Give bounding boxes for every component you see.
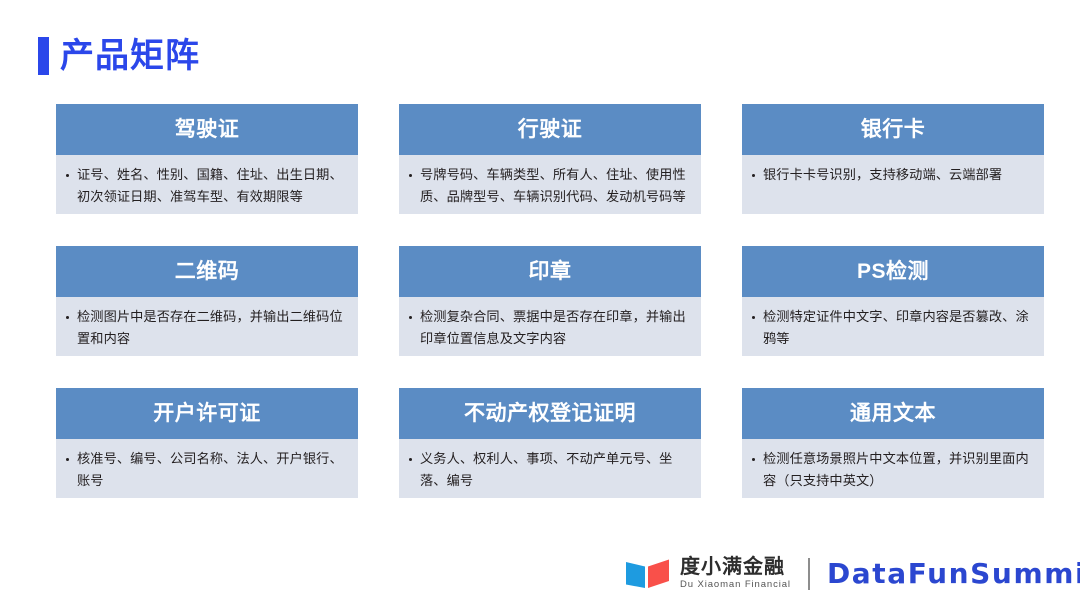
card-description: 号牌号码、车辆类型、所有人、住址、使用性质、品牌型号、车辆识别代码、发动机号码等 [407, 164, 691, 208]
card-body: 检测特定证件中文字、印章内容是否篡改、涂鸦等 [742, 297, 1044, 356]
card-title: 驾驶证 [175, 119, 240, 140]
card-title: 银行卡 [861, 119, 926, 140]
card-header: 通用文本 [742, 388, 1044, 439]
card-header: 开户许可证 [56, 388, 358, 439]
product-card-driver-license[interactable]: 驾驶证 证号、姓名、性别、国籍、住址、出生日期、初次领证日期、准驾车型、有效期限… [56, 104, 358, 214]
card-description: 核准号、编号、公司名称、法人、开户银行、账号 [64, 448, 348, 492]
page-title-row: 产品矩阵 [38, 33, 200, 79]
product-card-general-text[interactable]: 通用文本 检测任意场景照片中文本位置，并识别里面内容（只支持中英文） [742, 388, 1044, 498]
card-body: 银行卡卡号识别，支持移动端、云端部署 [742, 155, 1044, 214]
footer: 度小满金融 Du Xiaoman Financial DataFunSummit [624, 552, 1080, 596]
card-header: 银行卡 [742, 104, 1044, 155]
du-xiaoman-wordmark: 度小满金融 Du Xiaoman Financial [680, 557, 791, 591]
product-card-account-opening-permit[interactable]: 开户许可证 核准号、编号、公司名称、法人、开户银行、账号 [56, 388, 358, 498]
card-header: 二维码 [56, 246, 358, 297]
card-body: 证号、姓名、性别、国籍、住址、出生日期、初次领证日期、准驾车型、有效期限等 [56, 155, 358, 214]
du-xiaoman-logo-icon [624, 559, 671, 590]
card-description: 检测任意场景照片中文本位置，并识别里面内容（只支持中英文） [750, 448, 1034, 492]
card-header: 行驶证 [399, 104, 701, 155]
product-card-seal[interactable]: 印章 检测复杂合同、票据中是否存在印章，并输出印章位置信息及文字内容 [399, 246, 701, 356]
card-description: 证号、姓名、性别、国籍、住址、出生日期、初次领证日期、准驾车型、有效期限等 [64, 164, 348, 208]
product-card-ps-detection[interactable]: PS检测 检测特定证件中文字、印章内容是否篡改、涂鸦等 [742, 246, 1044, 356]
card-header: 不动产权登记证明 [399, 388, 701, 439]
card-header: PS检测 [742, 246, 1044, 297]
card-description: 检测特定证件中文字、印章内容是否篡改、涂鸦等 [750, 306, 1034, 350]
card-title: PS检测 [857, 261, 929, 282]
product-card-qr-code[interactable]: 二维码 检测图片中是否存在二维码，并输出二维码位置和内容 [56, 246, 358, 356]
card-body: 检测任意场景照片中文本位置，并识别里面内容（只支持中英文） [742, 439, 1044, 498]
product-card-real-estate-certificate[interactable]: 不动产权登记证明 义务人、权利人、事项、不动产单元号、坐落、编号 [399, 388, 701, 498]
product-card-vehicle-license[interactable]: 行驶证 号牌号码、车辆类型、所有人、住址、使用性质、品牌型号、车辆识别代码、发动… [399, 104, 701, 214]
card-header: 印章 [399, 246, 701, 297]
card-header: 驾驶证 [56, 104, 358, 155]
card-description: 检测复杂合同、票据中是否存在印章，并输出印章位置信息及文字内容 [407, 306, 691, 350]
product-card-bank-card[interactable]: 银行卡 银行卡卡号识别，支持移动端、云端部署 [742, 104, 1044, 214]
product-matrix-grid: 驾驶证 证号、姓名、性别、国籍、住址、出生日期、初次领证日期、准驾车型、有效期限… [56, 104, 1024, 498]
title-accent-bar [38, 37, 49, 75]
card-title: 开户许可证 [153, 403, 261, 424]
card-title: 二维码 [175, 261, 240, 282]
page-title: 产品矩阵 [60, 37, 200, 75]
card-body: 号牌号码、车辆类型、所有人、住址、使用性质、品牌型号、车辆识别代码、发动机号码等 [399, 155, 701, 214]
card-description: 银行卡卡号识别，支持移动端、云端部署 [750, 164, 1034, 186]
card-title: 印章 [529, 261, 572, 282]
card-body: 核准号、编号、公司名称、法人、开户银行、账号 [56, 439, 358, 498]
card-title: 行驶证 [518, 119, 583, 140]
card-body: 义务人、权利人、事项、不动产单元号、坐落、编号 [399, 439, 701, 498]
card-description: 检测图片中是否存在二维码，并输出二维码位置和内容 [64, 306, 348, 350]
event-logo-text: DataFunSummit [827, 559, 1080, 589]
card-description: 义务人、权利人、事项、不动产单元号、坐落、编号 [407, 448, 691, 492]
footer-divider [808, 558, 810, 590]
card-title: 不动产权登记证明 [464, 403, 636, 424]
brand-name-cn: 度小满金融 [680, 557, 791, 578]
brand-name-en: Du Xiaoman Financial [680, 579, 791, 591]
card-title: 通用文本 [850, 403, 936, 424]
card-body: 检测复杂合同、票据中是否存在印章，并输出印章位置信息及文字内容 [399, 297, 701, 356]
card-body: 检测图片中是否存在二维码，并输出二维码位置和内容 [56, 297, 358, 356]
